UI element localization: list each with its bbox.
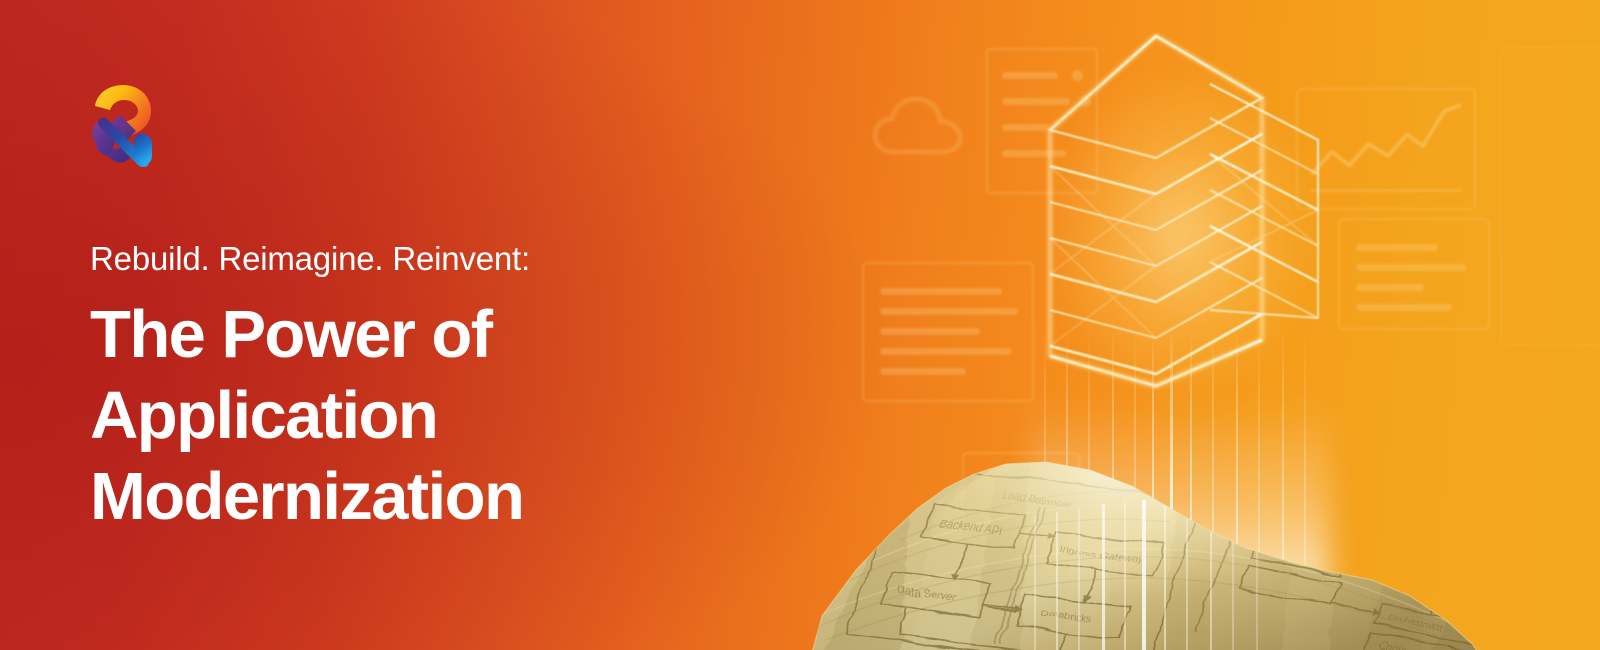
svg-text:Orchestrator: Orchestrator — [1386, 614, 1446, 635]
blueprint-svg: Load Balancer Backend API Ingress Gatewa… — [760, 430, 1520, 650]
crumpled-architecture-blueprint: Load Balancer Backend API Ingress Gatewa… — [760, 430, 1520, 650]
promo-banner: Load Balancer Backend API Ingress Gatewa… — [0, 0, 1600, 650]
svg-text:Container: Container — [1377, 642, 1425, 650]
headline-line-3: Modernization — [90, 456, 790, 537]
hologram-glow — [980, 0, 1380, 560]
svg-text:Data Server: Data Server — [894, 584, 957, 602]
edge-panel-card — [1500, 46, 1600, 346]
eyebrow-text: Rebuild. Reimagine. Reinvent: — [90, 238, 790, 280]
page-title: The Power of Application Modernization — [90, 294, 790, 538]
chart-trend-line — [1298, 90, 1474, 208]
headline-line-2: Application — [90, 375, 790, 456]
company-logo[interactable] — [86, 84, 162, 168]
holographic-wireframe-building — [1010, 18, 1340, 438]
svg-text:Load Balancer: Load Balancer — [1001, 490, 1076, 510]
headline-line-1: The Power of — [90, 294, 790, 375]
line-chart-card — [1296, 88, 1476, 210]
right-text-card — [1338, 218, 1490, 330]
document-card — [862, 262, 1034, 402]
svg-text:Ingress Gateway: Ingress Gateway — [1058, 544, 1145, 565]
svg-text:Backend API: Backend API — [937, 518, 1004, 537]
cloud-icon — [872, 96, 964, 158]
banner-copy: Rebuild. Reimagine. Reinvent: The Power … — [90, 238, 790, 538]
svg-text:Databricks: Databricks — [1038, 609, 1094, 626]
beam-glow-wash — [1030, 400, 1330, 590]
text-block-card — [962, 452, 1080, 544]
checklist-card — [986, 48, 1098, 194]
projection-light-beams — [1040, 330, 1320, 580]
